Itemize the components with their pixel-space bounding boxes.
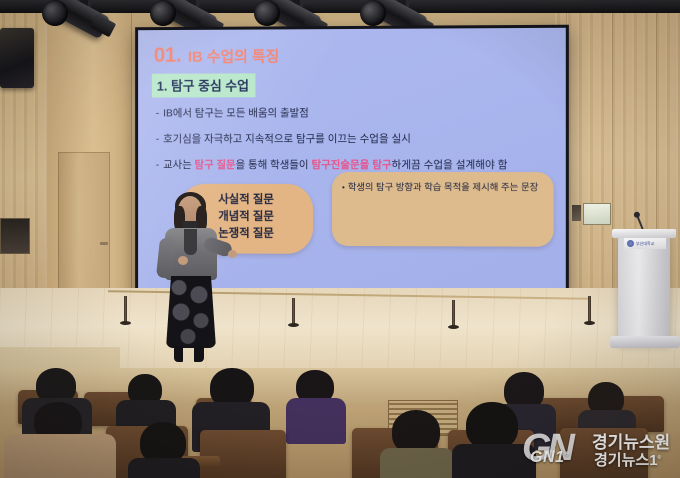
wall-sign	[583, 203, 611, 225]
door-handle	[100, 242, 108, 245]
presenter	[152, 196, 234, 364]
watermark-line-2: 경기뉴스1®	[594, 449, 661, 470]
bullet-text: IB에서 탐구는 모든 배움의 출발점	[163, 107, 309, 119]
watermark: GN GN1® 경기뉴스원 경기뉴스1®	[522, 427, 674, 473]
slide-box-definition: •학생의 탐구 방향과 학습 목적을 제시해 주는 문장	[332, 172, 554, 247]
presenter-boot	[194, 346, 204, 362]
podium-plate-text: 부산대학교	[636, 241, 654, 247]
bullet-text: 교사는	[163, 159, 194, 171]
wall-sign-small	[572, 205, 581, 221]
bullet-emphasis: 탐구진술문을 탐구	[311, 159, 391, 171]
bullet-dash: -	[156, 107, 159, 119]
spotlight-icon	[40, 0, 118, 54]
presenter-lapel	[184, 229, 197, 255]
slide-bullet: -교사는 탐구 질문을 통해 학생들이 탐구진술문을 탐구하게끔 수업을 설계해…	[156, 157, 556, 172]
slide-title: 01. IB 수업의 특징	[154, 43, 280, 67]
lecture-hall-photo: 01. IB 수업의 특징 1. 탐구 중심 수업 -IB에서 탐구는 모든 배…	[0, 0, 680, 478]
podium-nameplate: 부산대학교	[624, 238, 666, 249]
slide-title-text: IB 수업의 특징	[188, 45, 279, 66]
wall-speaker	[0, 28, 34, 88]
stanchion-post	[124, 296, 127, 322]
stanchion-post	[588, 296, 591, 322]
presenter-skirt	[166, 276, 216, 348]
stanchion-post	[292, 298, 295, 324]
audience-chair	[200, 430, 286, 478]
bullet-text: 을 통해 학생들이	[236, 159, 312, 171]
bullet-text: 하게끔 수업을 설계해야 함	[392, 159, 508, 171]
bullet-dash: -	[156, 133, 159, 145]
gn1-logo-text: GN1®	[530, 449, 569, 467]
stanchion-post	[452, 300, 455, 326]
slide-bullet: -호기심을 자극하고 지속적으로 탐구를 이끄는 수업을 실시	[156, 131, 556, 146]
university-emblem-icon	[627, 240, 634, 247]
presenter-left-hand	[178, 256, 188, 265]
podium-base	[610, 336, 680, 348]
bullet-dot-icon: •	[342, 183, 345, 192]
podium	[618, 233, 670, 343]
slide-number: 01.	[154, 44, 181, 68]
slide-bullet: -IB에서 탐구는 모든 배움의 출발점	[156, 104, 556, 120]
definition-text: 학생의 탐구 방향과 학습 목적을 제시해 주는 문장	[348, 182, 539, 192]
presenter-right-hand	[228, 250, 237, 258]
wall-control-panel	[0, 218, 30, 254]
bullet-dash: -	[156, 159, 159, 171]
podium-top-surface	[612, 229, 676, 238]
presenter-boot	[174, 346, 183, 362]
bullet-emphasis: 탐구 질문	[195, 159, 236, 171]
slide-section-heading: 1. 탐구 중심 수업	[152, 73, 256, 97]
bullet-text: 호기심을 자극하고 지속적으로 탐구를 이끄는 수업을 실시	[163, 133, 411, 145]
